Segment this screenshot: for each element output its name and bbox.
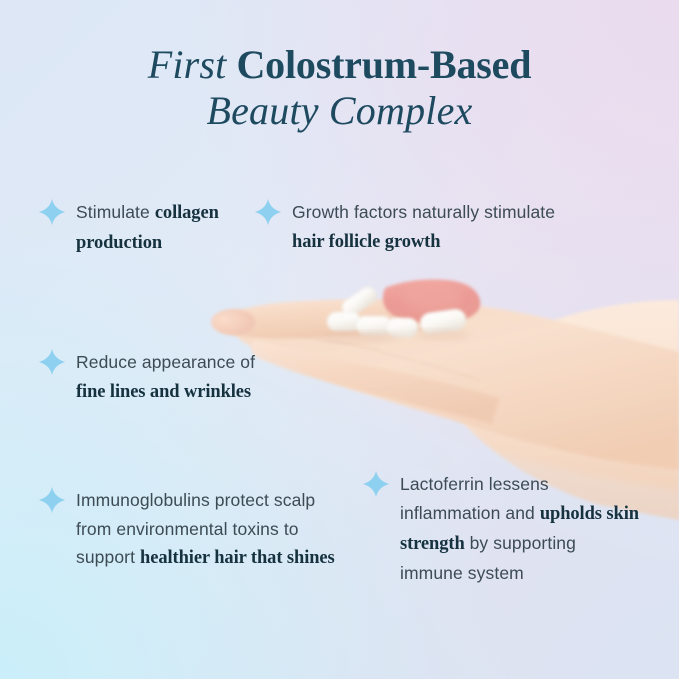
benefit-plain-1: Lactoferrin lessens inflammation and [400, 474, 549, 523]
sparkle-icon [362, 470, 390, 498]
sparkle-icon [38, 198, 66, 226]
benefit-text: Immunoglobulins protect scalp from envir… [76, 486, 338, 574]
benefit-emphasis-1: healthier hair that shines [140, 548, 335, 568]
sparkle-icon [38, 348, 66, 376]
benefit-text: Growth factors naturally stimulate hair … [292, 198, 584, 257]
benefit-item-fine-lines: Reduce appearance of fine lines and wrin… [38, 348, 288, 407]
benefit-text: Stimulate collagen production [76, 198, 243, 259]
benefit-plain-1: Reduce appearance of [76, 352, 255, 372]
sparkle-icon [254, 198, 282, 226]
page-title: First Colostrum-Based Beauty Complex [0, 42, 679, 133]
benefit-item-hair-follicle: Growth factors naturally stimulate hair … [254, 198, 584, 257]
title-line-2: Beauty Complex [0, 88, 679, 134]
benefit-plain-1: Stimulate [76, 202, 155, 222]
benefit-item-immunoglobulins: Immunoglobulins protect scalp from envir… [38, 486, 338, 574]
title-words-beauty-complex: Beauty Complex [206, 88, 472, 133]
product-benefits-poster: First Colostrum-Based Beauty Complex Sti… [0, 0, 679, 679]
benefit-plain-1: Growth factors naturally stimulate [292, 202, 555, 222]
title-word-first: First [148, 42, 227, 87]
benefit-item-collagen: Stimulate collagen production [38, 198, 243, 259]
sparkle-icon [38, 486, 66, 514]
benefit-emphasis-1: fine lines and wrinkles [76, 382, 251, 402]
title-line-1: First Colostrum-Based [0, 42, 679, 88]
benefit-text: Reduce appearance of fine lines and wrin… [76, 348, 288, 407]
title-word-colostrum-based: Colostrum-Based [237, 42, 532, 87]
benefit-emphasis-1: hair follicle growth [292, 232, 440, 252]
benefit-item-lactoferrin: Lactoferrin lessens inflammation and uph… [362, 470, 642, 588]
benefit-text: Lactoferrin lessens inflammation and uph… [400, 470, 642, 588]
